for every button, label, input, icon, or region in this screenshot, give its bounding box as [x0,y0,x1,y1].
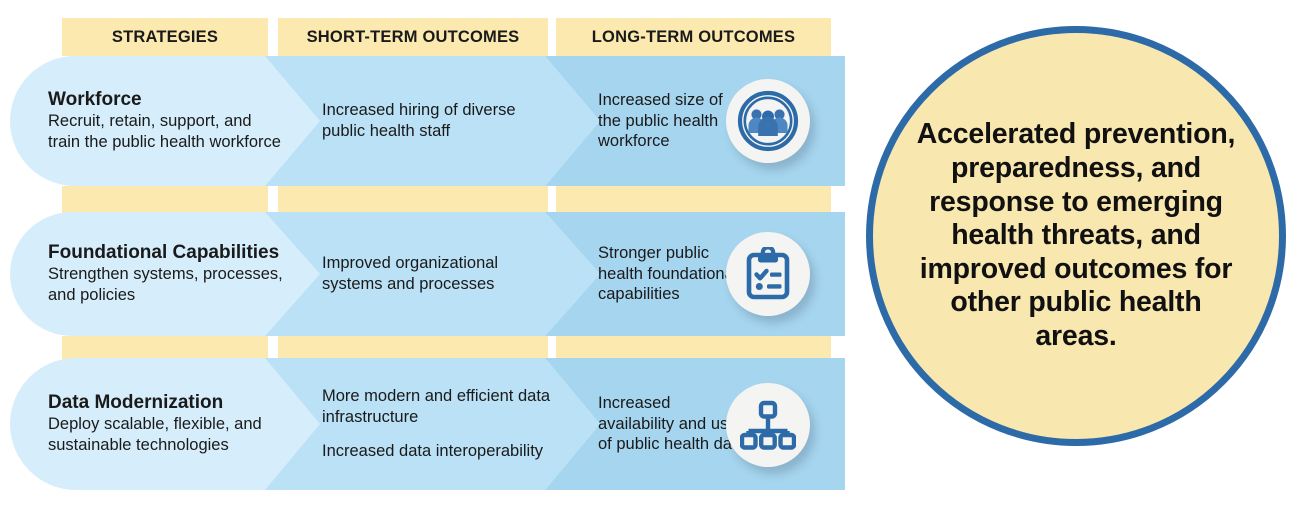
row-foundational-capabilities: Foundational Capabilities Strengthen sys… [0,212,845,336]
short-term-cell-data-modernization: More modern and efficient data infrastru… [322,358,562,490]
column-header-long-term-outcomes-label: LONG-TERM OUTCOMES [592,28,795,47]
column-header-short-term-outcomes-label: SHORT-TERM OUTCOMES [307,28,520,47]
short-term-item: Increased hiring of diverse public healt… [322,100,562,142]
strategy-cell-workforce: Workforce Recruit, retain, support, and … [48,56,283,186]
org-network-icon [740,400,796,450]
badge-people-group [726,79,810,163]
row-data-modernization: Data Modernization Deploy scalable, flex… [0,358,845,490]
column-header-long-term-outcomes: LONG-TERM OUTCOMES [556,18,831,56]
badge-org-network [726,383,810,467]
strategy-title-data-modernization: Data Modernization [48,392,283,414]
short-term-item: Improved organizational systems and proc… [322,253,562,295]
spine-segment-col1-a [62,186,268,214]
strategy-desc-foundational: Strengthen systems, processes, and polic… [48,265,283,304]
column-header-strategies: STRATEGIES [62,18,268,56]
column-header-short-term-outcomes: SHORT-TERM OUTCOMES [278,18,548,56]
spine-segment-col2-a [278,186,548,214]
strategy-cell-foundational: Foundational Capabilities Strengthen sys… [48,212,283,336]
spine-segment-col3-a [556,186,831,214]
spine-segment-col3-b [556,336,831,360]
spine-segment-col2-b [278,336,548,360]
strategy-title-foundational: Foundational Capabilities [48,242,283,264]
overall-outcome-text: Accelerated prevention, preparedness, an… [911,118,1241,353]
logic-model-infographic: STRATEGIES SHORT-TERM OUTCOMES LONG-TERM… [0,0,1305,522]
badge-clipboard-checklist [726,232,810,316]
strategy-cell-data-modernization: Data Modernization Deploy scalable, flex… [48,358,283,490]
short-term-item: Increased data interoperability [322,441,562,462]
strategy-desc-workforce: Recruit, retain, support, and train the … [48,112,281,151]
clipboard-checklist-icon [741,247,795,301]
column-header-strategies-label: STRATEGIES [112,28,218,47]
short-term-item: More modern and efficient data infrastru… [322,386,562,428]
short-term-cell-foundational: Improved organizational systems and proc… [322,212,562,336]
short-term-cell-workforce: Increased hiring of diverse public healt… [322,56,562,186]
people-group-icon [737,90,799,152]
spine-segment-col1-b [62,336,268,360]
strategy-title-workforce: Workforce [48,89,283,111]
row-workforce: Workforce Recruit, retain, support, and … [0,56,845,186]
overall-outcome-circle: Accelerated prevention, preparedness, an… [866,26,1286,446]
strategy-desc-data-modernization: Deploy scalable, flexible, and sustainab… [48,415,262,454]
